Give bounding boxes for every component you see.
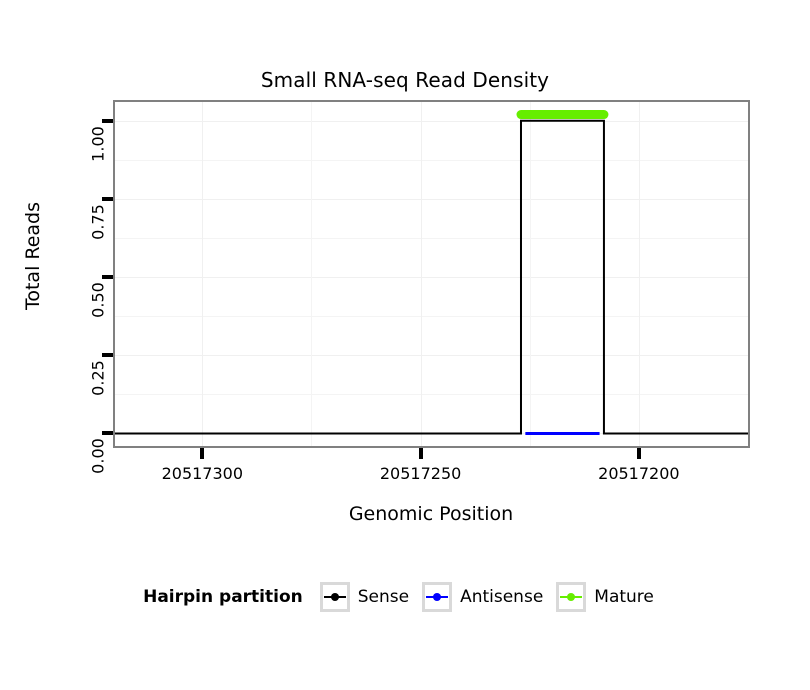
chart-legend: Hairpin partition SenseAntisenseMature	[0, 582, 810, 612]
legend-key-dot	[567, 593, 575, 601]
y-tick-label: 0.50	[89, 278, 108, 323]
y-tick-label: 1.00	[89, 121, 108, 166]
legend-label: Antisense	[460, 587, 543, 607]
x-tick-label: 20517200	[598, 464, 679, 483]
y-tick-label: 0.25	[89, 356, 108, 401]
legend-key-mature-icon	[556, 582, 586, 612]
page-title: Small RNA-seq Read Density	[0, 68, 810, 92]
legend-title: Hairpin partition	[143, 587, 303, 607]
legend-key-antisense-icon	[422, 582, 452, 612]
legend-key-sense-icon	[320, 582, 350, 612]
series-line-sense	[115, 121, 748, 434]
legend-entry-sense[interactable]: Sense	[320, 582, 409, 612]
x-tick-mark	[419, 448, 423, 459]
chart-figure: Small RNA-seq Read Density Total Reads 0…	[0, 0, 810, 690]
x-tick-mark	[200, 448, 204, 459]
legend-entry-mature[interactable]: Mature	[556, 582, 654, 612]
series-svg	[115, 102, 748, 446]
y-axis-title: Total Reads	[22, 176, 44, 336]
legend-entry-antisense[interactable]: Antisense	[422, 582, 543, 612]
x-tick-label: 20517250	[380, 464, 461, 483]
legend-label: Sense	[358, 587, 409, 607]
series-layer	[115, 102, 748, 446]
x-tick-label: 20517300	[162, 464, 243, 483]
legend-label: Mature	[594, 587, 654, 607]
x-axis-title: Genomic Position	[110, 503, 752, 525]
plot-panel	[113, 100, 750, 448]
legend-key-dot	[433, 593, 441, 601]
plot-panel-inner	[115, 102, 748, 446]
legend-key-dot	[331, 593, 339, 601]
x-tick-mark	[637, 448, 641, 459]
y-tick-label: 0.00	[89, 434, 108, 479]
y-tick-label: 0.75	[89, 199, 108, 244]
